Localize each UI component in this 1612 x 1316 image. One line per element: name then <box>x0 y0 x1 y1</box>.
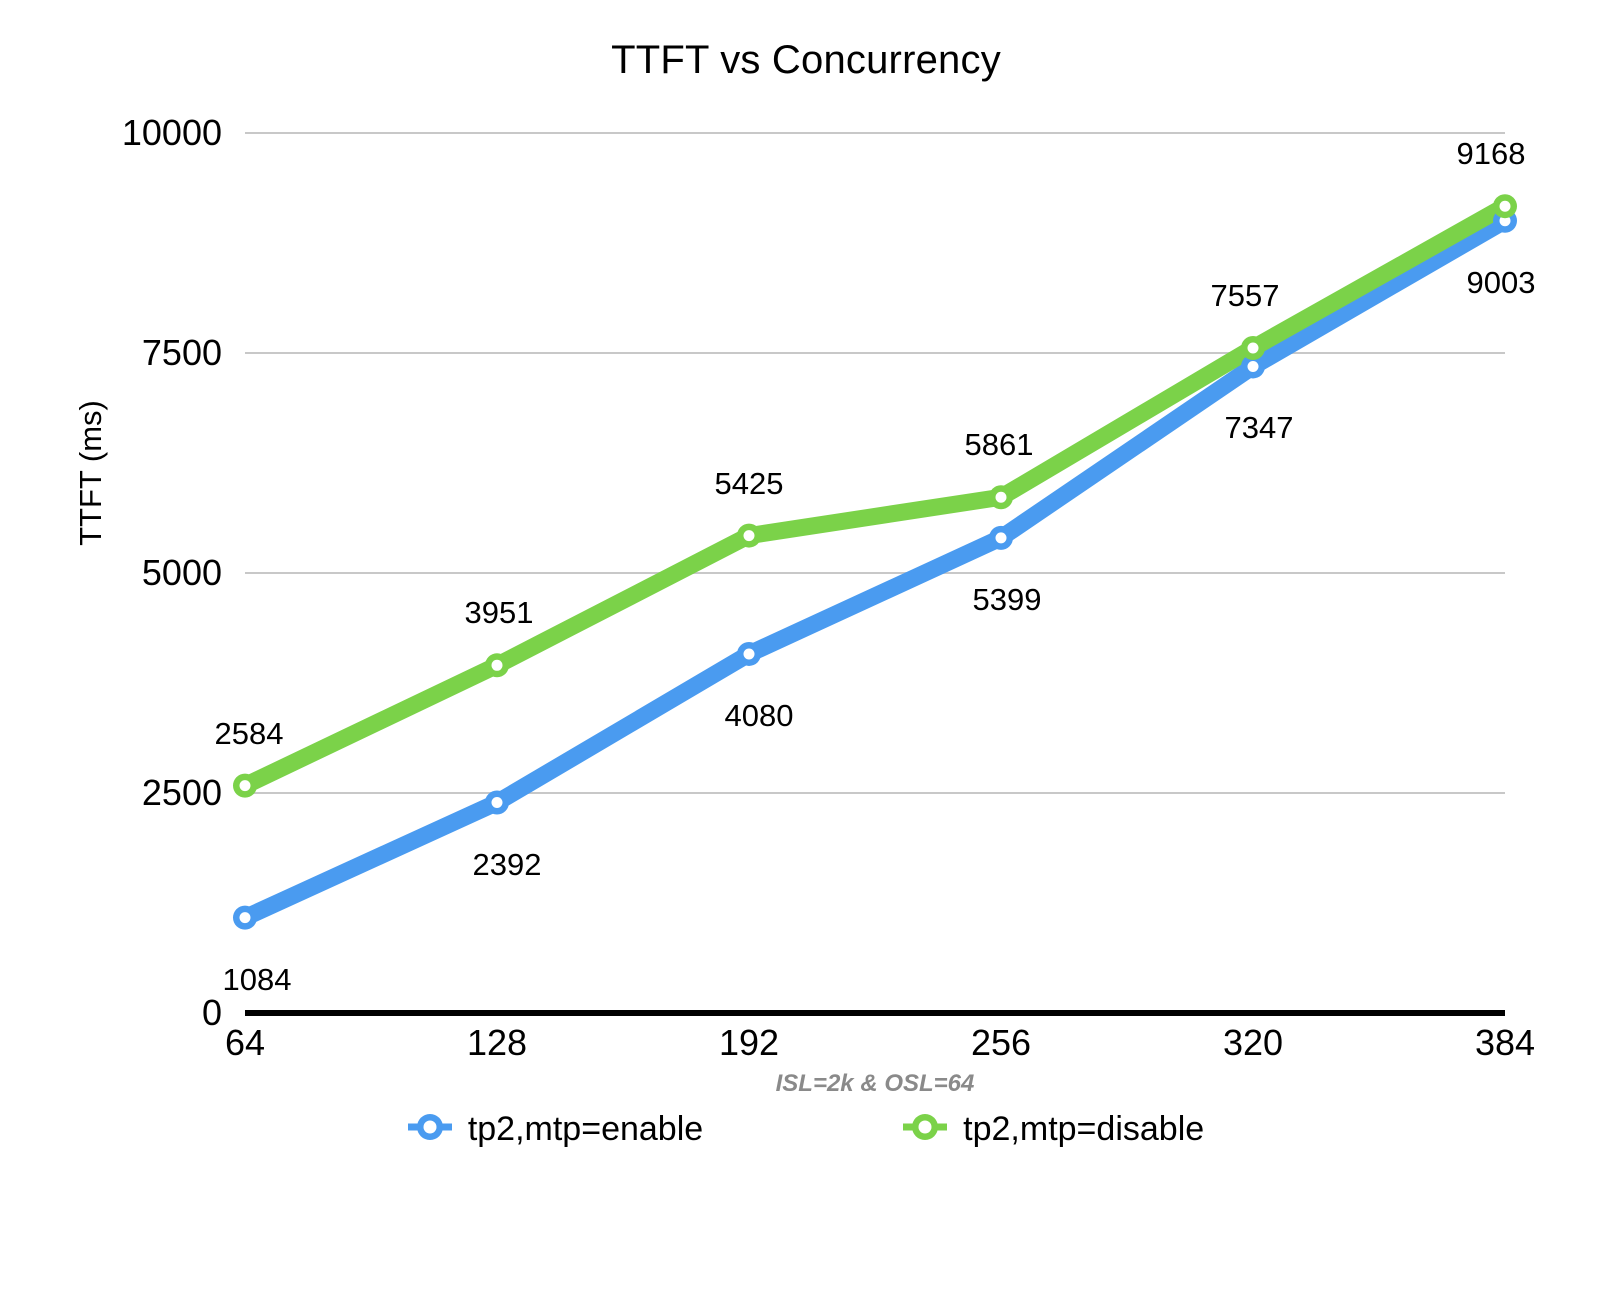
y-tick-label: 10000 <box>42 112 222 154</box>
x-axis-caption: ISL=2k & OSL=64 <box>245 1070 1505 1098</box>
y-tick-label: 2500 <box>42 772 222 814</box>
data-point-marker[interactable] <box>989 526 1013 550</box>
legend-item[interactable]: tp2,mtp=enable <box>408 1110 703 1149</box>
x-tick-label: 256 <box>911 1022 1091 1064</box>
data-point-marker[interactable] <box>485 653 509 677</box>
data-point-marker[interactable] <box>737 642 761 666</box>
page-title: TTFT vs Concurrency <box>0 38 1612 83</box>
series-line <box>245 221 1505 918</box>
x-tick-label: 192 <box>659 1022 839 1064</box>
ring-marker-icon <box>903 1110 947 1149</box>
x-axis-line <box>245 1010 1505 1016</box>
data-point-marker[interactable] <box>485 791 509 815</box>
legend-label: tp2,mtp=disable <box>963 1110 1204 1149</box>
data-point-marker[interactable] <box>233 774 257 798</box>
y-tick-label: 5000 <box>42 552 222 594</box>
legend: tp2,mtp=enabletp2,mtp=disable <box>0 1110 1612 1149</box>
y-axis-title-label: TTFT (ms) <box>73 400 109 546</box>
plot-area: 1084239240805399734790032584395154255861… <box>245 133 1505 1013</box>
x-tick-label: 384 <box>1415 1022 1595 1064</box>
data-point-marker[interactable] <box>233 906 257 930</box>
x-tick-label: 64 <box>155 1022 335 1064</box>
ring-marker-icon <box>408 1110 452 1149</box>
legend-item[interactable]: tp2,mtp=disable <box>903 1110 1204 1149</box>
series-line <box>245 206 1505 785</box>
data-point-marker[interactable] <box>989 485 1013 509</box>
y-axis-title: TTFT (ms) <box>18 455 78 491</box>
data-point-marker[interactable] <box>1493 194 1517 218</box>
y-tick-label: 7500 <box>42 332 222 374</box>
x-tick-label: 320 <box>1163 1022 1343 1064</box>
legend-label: tp2,mtp=enable <box>468 1110 703 1149</box>
x-tick-label: 128 <box>407 1022 587 1064</box>
data-point-marker[interactable] <box>1241 336 1265 360</box>
data-point-marker[interactable] <box>737 524 761 548</box>
chart-container: TTFT vs Concurrency TTFT (ms) 0250050007… <box>0 0 1612 1316</box>
series-svg <box>245 133 1505 1013</box>
